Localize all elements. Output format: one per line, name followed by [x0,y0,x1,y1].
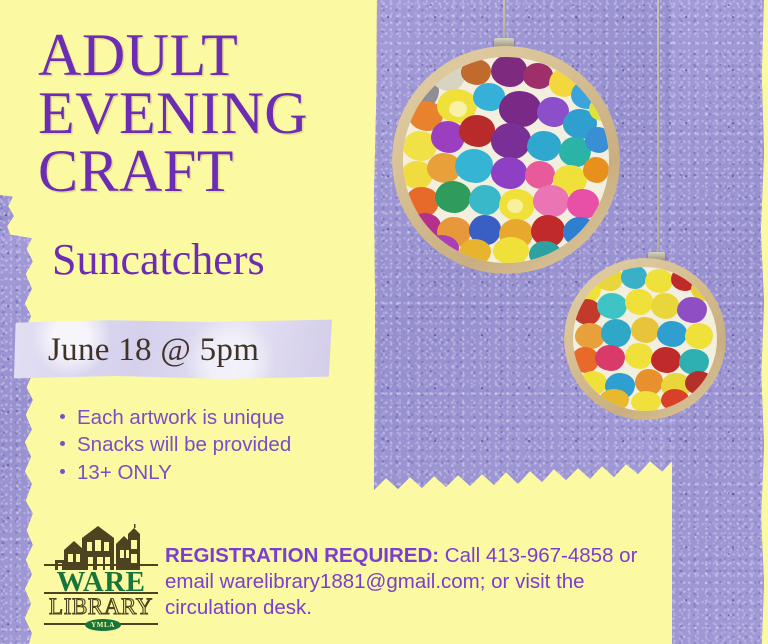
suncatcher-art-small [573,267,717,411]
hanging-string-large [503,0,505,42]
page-title: ADULT EVENING CRAFT [38,26,368,201]
headline-line-1: ADULT [38,26,368,84]
logo-badge-ymla: YMLA [85,619,121,631]
hanging-string-small [657,0,659,258]
paper-flake-left-top [0,194,18,240]
details-list: Each artwork is unique Snacks will be pr… [58,404,291,486]
list-item: Each artwork is unique [58,404,291,431]
suncatcher-art-large [403,57,609,263]
list-item: Snacks will be provided [58,431,291,458]
suncatcher-hoop-small [564,258,726,420]
poster-canvas: ADULT EVENING CRAFT Suncatchers June 18 … [0,0,768,644]
list-item: 13+ ONLY [58,459,291,486]
ware-library-logo: WARE LIBRARY YMLA [42,524,160,632]
headline-line-2: EVENING [38,84,368,142]
logo-word-library: LIBRARY [42,595,160,618]
suncatcher-hoop-large [392,46,620,274]
paper-strip-left [0,232,38,644]
event-date-time: June 18 @ 5pm [48,334,259,367]
registration-info: REGISTRATION REQUIRED: Call 413-967-4858… [165,543,665,622]
subtitle: Suncatchers [52,238,265,282]
registration-label: REGISTRATION REQUIRED: [165,544,439,567]
headline-line-3: CRAFT [38,142,368,200]
